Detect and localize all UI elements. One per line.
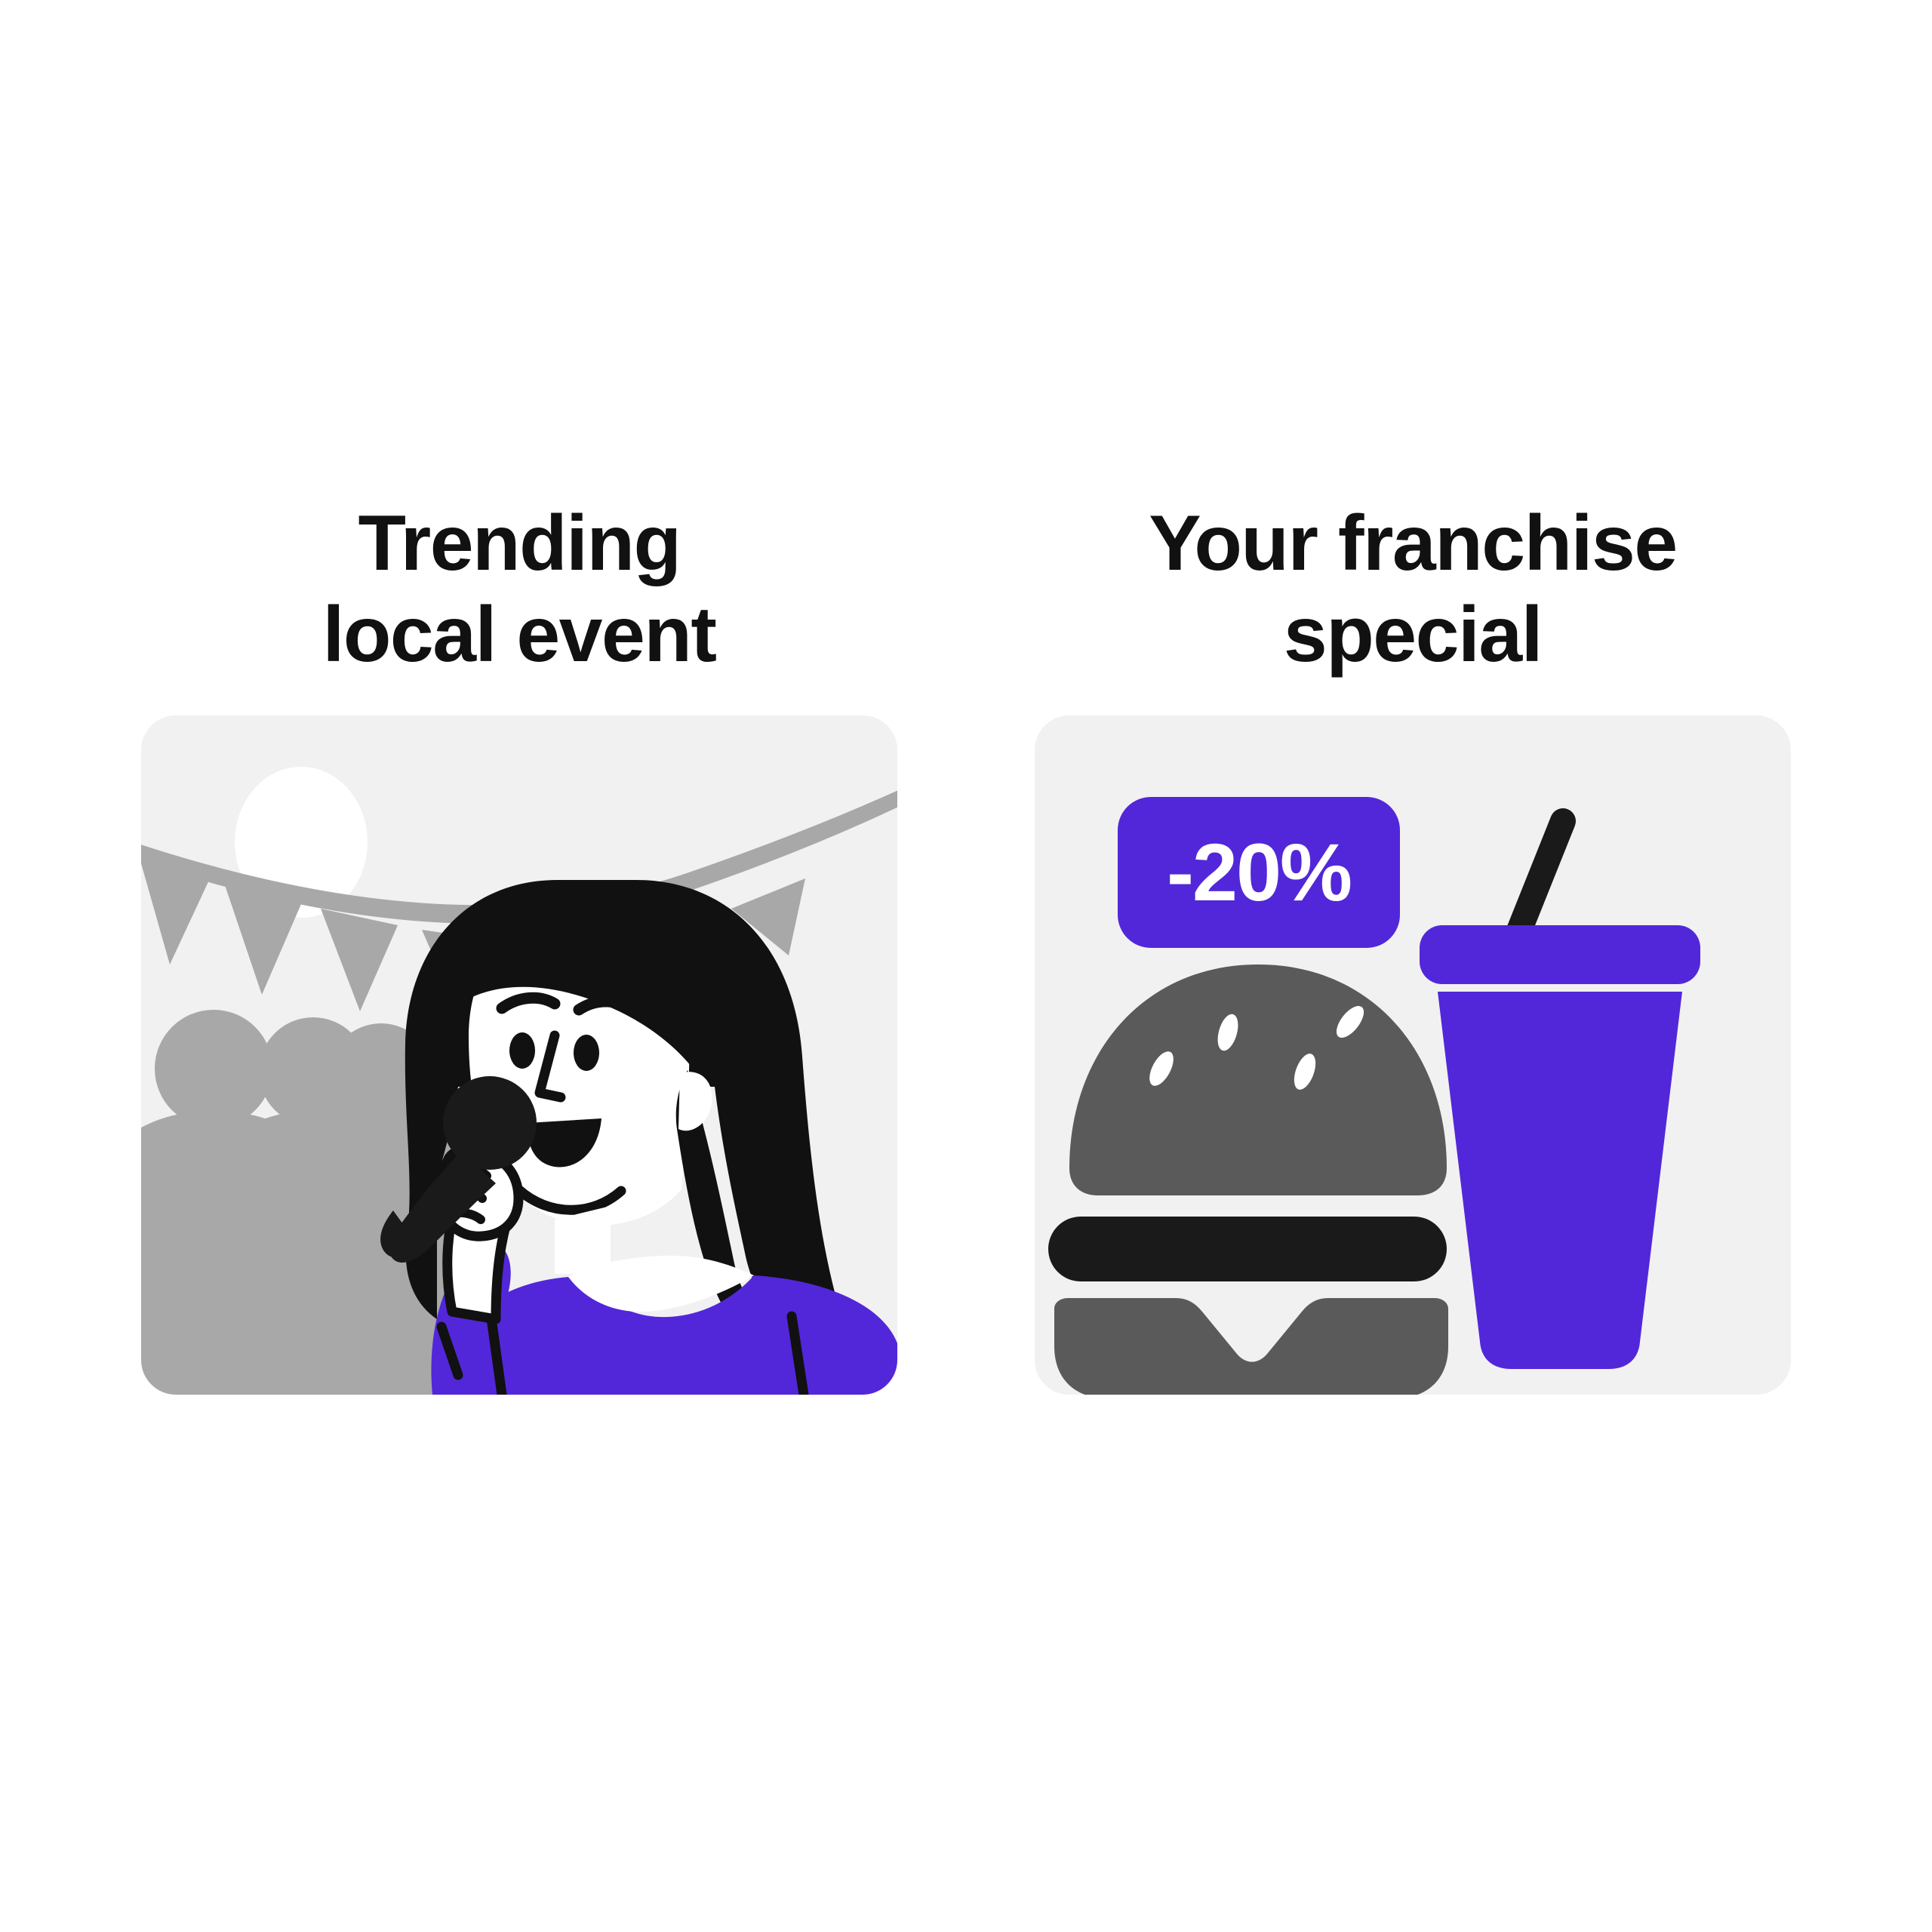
discount-badge[interactable]: -20% <box>1118 797 1400 948</box>
panel-row: Trending local event <box>0 498 1932 1464</box>
burger-patty <box>1048 1217 1447 1281</box>
card-your-franchise-special: -20% <box>1035 715 1791 1395</box>
discount-badge-label: -20% <box>1167 832 1351 913</box>
eye-left-icon <box>509 1032 535 1069</box>
poster-canvas: Trending local event <box>0 0 1932 1932</box>
panel-title-your-franchise-special: Your franchise special <box>1149 498 1676 687</box>
panel-trending-local-event: Trending local event <box>141 498 897 1464</box>
card-trending-local-event <box>141 715 897 1395</box>
drink-lid-icon <box>1420 925 1700 984</box>
panel-your-franchise-special: Your franchise special <box>1035 498 1791 1464</box>
eye-right-icon <box>574 1035 599 1071</box>
event-speaker-illustration <box>141 715 897 1395</box>
panel-title-trending-local-event: Trending local event <box>322 498 715 687</box>
